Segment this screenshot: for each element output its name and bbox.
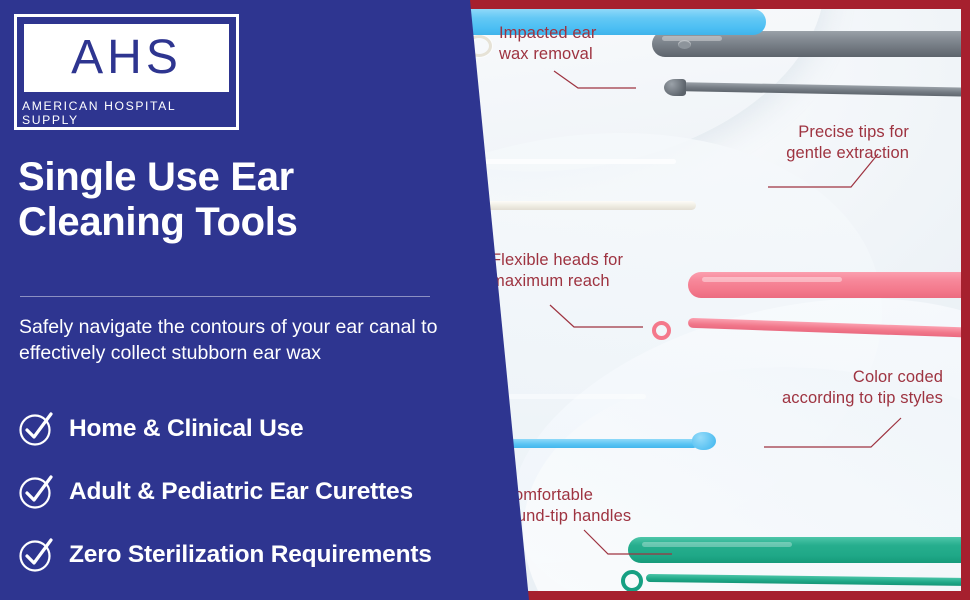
check-icon bbox=[18, 536, 55, 573]
list-item: Home & Clinical Use bbox=[18, 410, 538, 447]
feature-list: Home & Clinical Use Adult & Pediatric Ea… bbox=[18, 410, 538, 599]
list-item-label: Zero Sterilization Requirements bbox=[69, 541, 432, 569]
green-curette-ring-tip bbox=[621, 570, 643, 592]
list-item-label: Adult & Pediatric Ear Curettes bbox=[69, 478, 413, 506]
blue-curette-bulb-tip bbox=[692, 432, 716, 450]
promo-banner: Impacted ear wax removal Precise tips fo… bbox=[0, 0, 970, 600]
green-curette-handle bbox=[628, 537, 970, 563]
pink-curette-handle bbox=[688, 272, 970, 298]
logo-subtitle: AMERICAN HOSPITAL SUPPLY bbox=[22, 100, 231, 126]
callout-flexible-heads: Flexible heads for maximum reach bbox=[491, 250, 623, 292]
pink-curette-ring-tip bbox=[652, 321, 671, 340]
cream-curette-shaft bbox=[466, 201, 696, 210]
divider bbox=[20, 296, 430, 297]
page-title: Single Use Ear Cleaning Tools bbox=[18, 155, 438, 245]
callout-color-coded: Color coded according to tip styles bbox=[782, 367, 943, 409]
gray-curette-scoop-tip bbox=[664, 79, 686, 96]
list-item: Adult & Pediatric Ear Curettes bbox=[18, 473, 538, 510]
logo-mark-text: AHS bbox=[71, 34, 182, 82]
check-icon bbox=[18, 410, 55, 447]
check-icon bbox=[18, 473, 55, 510]
info-panel: AHS AMERICAN HOSPITAL SUPPLY Single Use … bbox=[0, 0, 560, 600]
callout-impacted-wax: Impacted ear wax removal bbox=[499, 23, 597, 65]
green-curette-highlight bbox=[642, 542, 792, 547]
logo-mark-box: AHS bbox=[22, 22, 231, 94]
list-item-label: Home & Clinical Use bbox=[69, 415, 303, 443]
callout-round-tip-handles: Comfortable round-tip handles bbox=[502, 485, 631, 527]
pink-curette-highlight bbox=[702, 277, 842, 282]
callout-precise-tips: Precise tips for gentle extraction bbox=[786, 122, 909, 164]
product-photo-panel: Impacted ear wax removal Precise tips fo… bbox=[466, 0, 970, 600]
subtitle-text: Safely navigate the contours of your ear… bbox=[19, 314, 489, 367]
brand-logo: AHS AMERICAN HOSPITAL SUPPLY bbox=[14, 14, 239, 130]
list-item: Zero Sterilization Requirements bbox=[18, 536, 538, 573]
cream-curette-highlight bbox=[476, 159, 676, 164]
